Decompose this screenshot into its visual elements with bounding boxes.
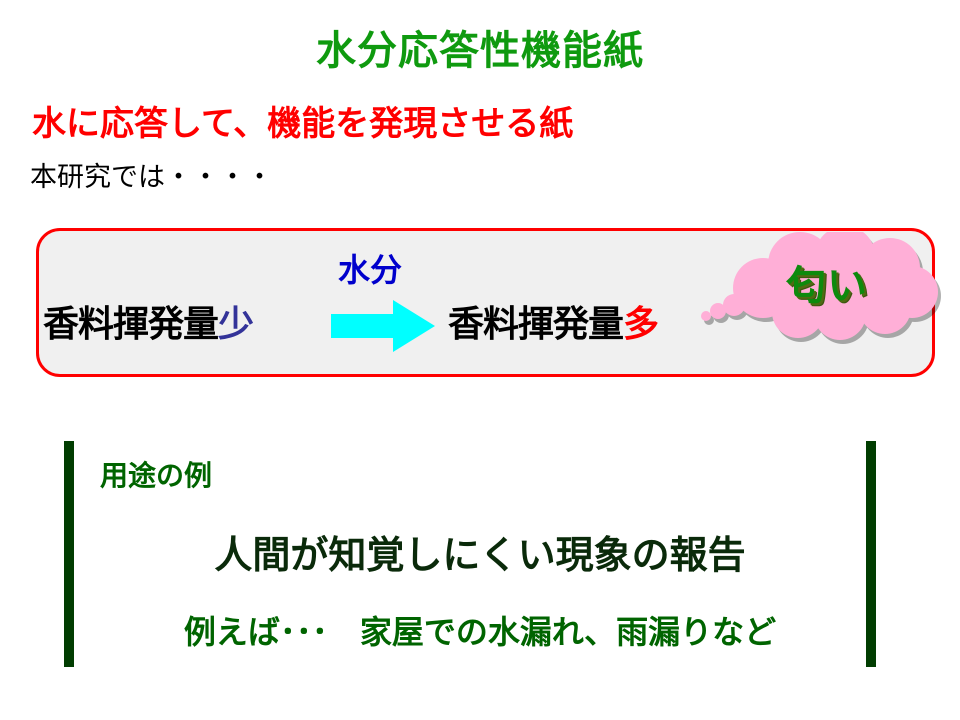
right-arrow-icon	[331, 300, 435, 352]
left-state-label: 香料揮発量少	[43, 295, 253, 347]
lead-text: 本研究では・・・・	[30, 155, 273, 194]
slide-canvas: 水分応答性機能紙 水に応答して、機能を発現させる紙 本研究では・・・・ 香料揮発…	[0, 0, 960, 720]
subtitle-text: 水に応答して、機能を発現させる紙	[32, 96, 573, 145]
cloud-label: 匂い	[786, 253, 868, 311]
trigger-label: 水分	[338, 245, 402, 291]
usecase-label: 用途の例	[100, 454, 212, 494]
left-state-prefix: 香料揮発量	[43, 304, 218, 345]
left-state-accent: 少	[218, 304, 253, 345]
right-state-accent: 多	[623, 304, 658, 345]
usecase-heading: 人間が知覚しにくい現象の報告	[0, 524, 960, 579]
right-state-prefix: 香料揮発量	[448, 304, 623, 345]
page-title: 水分応答性機能紙	[0, 18, 960, 76]
right-state-label: 香料揮発量多	[448, 295, 658, 347]
usecase-example: 例えば･･･ 家屋での水漏れ、雨漏りなど	[0, 607, 960, 653]
